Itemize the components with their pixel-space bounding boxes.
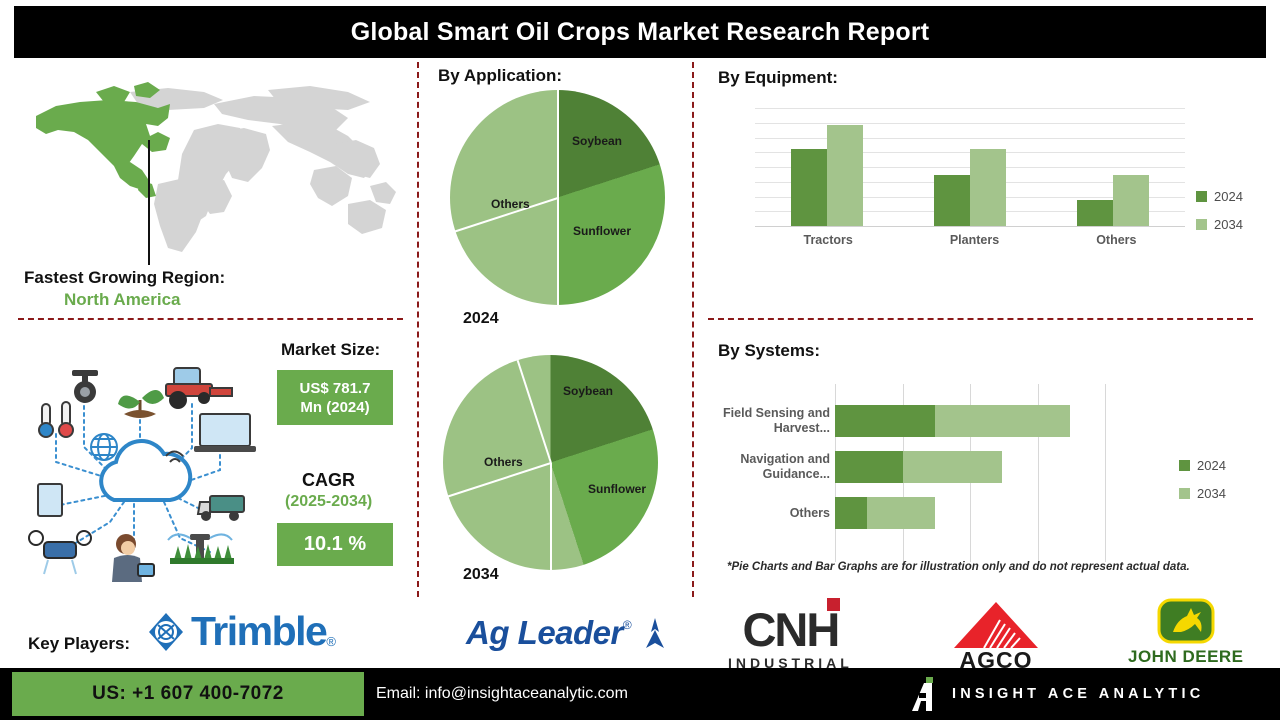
trimble-mark-icon	[145, 611, 187, 653]
iot-diagram-svg	[14, 352, 272, 587]
iot-tablet-icon	[38, 484, 62, 516]
divider-horizontal-right	[708, 318, 1253, 320]
equipment-bar-2024	[1077, 200, 1113, 226]
systems-bar-row	[835, 444, 1105, 490]
logo-john-deere: JOHN DEERE	[1128, 598, 1244, 667]
pie-slice-separator	[557, 90, 559, 198]
systems-bar-row	[835, 490, 1105, 536]
by-equipment-title: By Equipment:	[718, 68, 838, 88]
pie-2034-year-label: 2034	[463, 566, 499, 584]
cnh-red-square-icon	[827, 598, 840, 611]
iot-tractor-icon	[166, 368, 232, 409]
cagr-value-box: 10.1 %	[277, 523, 393, 566]
iot-truck-icon	[198, 496, 244, 521]
pie-chart-2024	[450, 90, 665, 305]
page-title: Global Smart Oil Crops Market Research R…	[351, 18, 930, 47]
fastest-region-value: North America	[64, 290, 181, 310]
key-players-label: Key Players:	[28, 634, 130, 654]
systems-bar-2024	[835, 405, 935, 437]
legend-swatch-2034-icon	[1196, 219, 1207, 230]
by-systems-title: By Systems:	[718, 341, 820, 361]
john-deere-wordmark: JOHN DEERE	[1128, 647, 1244, 667]
legend-item-2024: 2024	[1196, 189, 1243, 204]
market-size-line1: US$ 781.7	[300, 379, 371, 398]
pie-2034-label-others: Others	[484, 455, 523, 469]
equipment-bar-2034	[827, 125, 863, 226]
iot-laptop-icon	[194, 414, 256, 452]
iot-farmer-icon	[112, 534, 154, 582]
logo-ag-leader: Ag Leader ®	[466, 614, 672, 652]
logo-agco: AGCO	[950, 600, 1042, 674]
equipment-category-label: Planters	[950, 233, 999, 247]
equipment-category-label: Tractors	[804, 233, 853, 247]
systems-legend-label-2034: 2034	[1197, 486, 1226, 501]
fastest-region-label: Fastest Growing Region:	[24, 268, 225, 288]
systems-category-label: Navigation and Guidance...	[690, 444, 830, 490]
pie-2024-label-soybean: Soybean	[572, 134, 622, 148]
market-size-title: Market Size:	[281, 340, 380, 360]
pie-slice-separator	[550, 463, 552, 571]
header-bar: Global Smart Oil Crops Market Research R…	[14, 6, 1266, 58]
map-other-regions	[130, 86, 396, 252]
world-map	[18, 74, 408, 264]
world-map-svg	[18, 74, 408, 264]
equipment-category-labels: TractorsPlantersOthers	[755, 233, 1185, 247]
charts-footnote: *Pie Charts and Bar Graphs are for illus…	[727, 561, 1190, 573]
cnh-wordmark: CNH	[742, 603, 838, 656]
systems-legend-label-2024: 2024	[1197, 458, 1226, 473]
iot-drone-icon	[29, 531, 91, 574]
equipment-bar-group	[934, 108, 1006, 226]
pie-slice-separator	[557, 198, 559, 306]
equipment-bar-2024	[934, 175, 970, 226]
by-application-title: By Application:	[438, 66, 562, 86]
systems-bar-2034	[867, 497, 935, 529]
map-pointer-line	[148, 140, 150, 265]
equipment-bar-2034	[1113, 175, 1149, 226]
pie-2034-label-soybean: Soybean	[563, 384, 613, 398]
footer-brand: INSIGHT ACE ANALYTIC	[912, 672, 1204, 716]
ag-leader-mark-icon	[638, 616, 672, 650]
iot-cloud-icon	[101, 441, 190, 500]
systems-bar-2034	[903, 451, 1003, 483]
equipment-bars	[755, 108, 1185, 226]
iot-globe-icon	[91, 434, 117, 460]
systems-category-label: Field Sensing and Harvest...	[690, 398, 830, 444]
equipment-bar-group	[791, 108, 863, 226]
infographic-canvas: Global Smart Oil Crops Market Research R…	[0, 0, 1280, 720]
pie-2024-year-label: 2024	[463, 310, 499, 328]
agco-triangle-icon	[950, 600, 1042, 650]
logo-trimble: Trimble ®	[145, 608, 336, 655]
equipment-category-label: Others	[1096, 233, 1136, 247]
equipment-legend: 2024 2034	[1196, 189, 1243, 232]
footer-email[interactable]: Email: info@insightaceanalytic.com	[376, 672, 628, 716]
market-size-line2: Mn (2024)	[300, 398, 369, 417]
pie-2034-label-sunflower: Sunflower	[588, 482, 646, 496]
systems-bar-2034	[935, 405, 1070, 437]
equipment-bar-2034	[970, 149, 1006, 226]
systems-category-labels: Field Sensing and Harvest...Navigation a…	[690, 398, 830, 536]
pie-slice-separator	[516, 360, 551, 463]
ag-leader-wordmark: Ag Leader	[466, 614, 623, 652]
iot-seedling-icon	[118, 390, 164, 418]
iot-thermometer-icon	[39, 402, 73, 437]
systems-category-label: Others	[690, 490, 830, 536]
john-deere-leaping-deer-icon	[1155, 598, 1217, 646]
legend-label-2024: 2024	[1214, 189, 1243, 204]
iot-camera-icon	[72, 370, 98, 403]
trimble-registered-icon: ®	[326, 634, 336, 649]
systems-bar-2024	[835, 497, 867, 529]
legend-item-2034: 2034	[1196, 217, 1243, 232]
equipment-chart-axis	[755, 226, 1185, 227]
cagr-title: CAGR	[302, 470, 355, 491]
systems-bar-2024	[835, 451, 903, 483]
pie-2024-label-sunflower: Sunflower	[573, 224, 631, 238]
systems-bar-row	[835, 398, 1105, 444]
trimble-wordmark: Trimble	[191, 608, 326, 655]
smart-agriculture-iot-illustration	[14, 352, 272, 587]
pie-2024-label-others: Others	[491, 197, 530, 211]
equipment-bar-2024	[791, 149, 827, 226]
legend-label-2034: 2034	[1214, 217, 1243, 232]
iot-sprinkler-icon	[168, 534, 234, 564]
systems-legend-swatch-2034-icon	[1179, 488, 1190, 499]
pie-chart-2034	[443, 355, 658, 570]
insight-ace-logo-icon	[912, 677, 938, 711]
footer-phone: US: +1 607 400-7072	[12, 672, 364, 716]
market-size-value-box: US$ 781.7 Mn (2024)	[277, 370, 393, 425]
divider-vertical-left	[417, 62, 419, 597]
systems-legend: 2024 2034	[1179, 458, 1226, 501]
systems-legend-item-2034: 2034	[1179, 486, 1226, 501]
ag-leader-registered-icon: ®	[623, 618, 632, 632]
cagr-years: (2025-2034)	[285, 493, 372, 511]
systems-legend-swatch-2024-icon	[1179, 460, 1190, 471]
footer-brand-text: INSIGHT ACE ANALYTIC	[952, 686, 1204, 702]
systems-grid-line	[1105, 384, 1106, 562]
equipment-bar-group	[1077, 108, 1149, 226]
divider-horizontal-left	[18, 318, 403, 320]
systems-legend-item-2024: 2024	[1179, 458, 1226, 473]
logo-cnh-industrial: CNH INDUSTRIAL	[728, 602, 853, 671]
systems-bars	[835, 398, 1105, 536]
legend-swatch-2024-icon	[1196, 191, 1207, 202]
